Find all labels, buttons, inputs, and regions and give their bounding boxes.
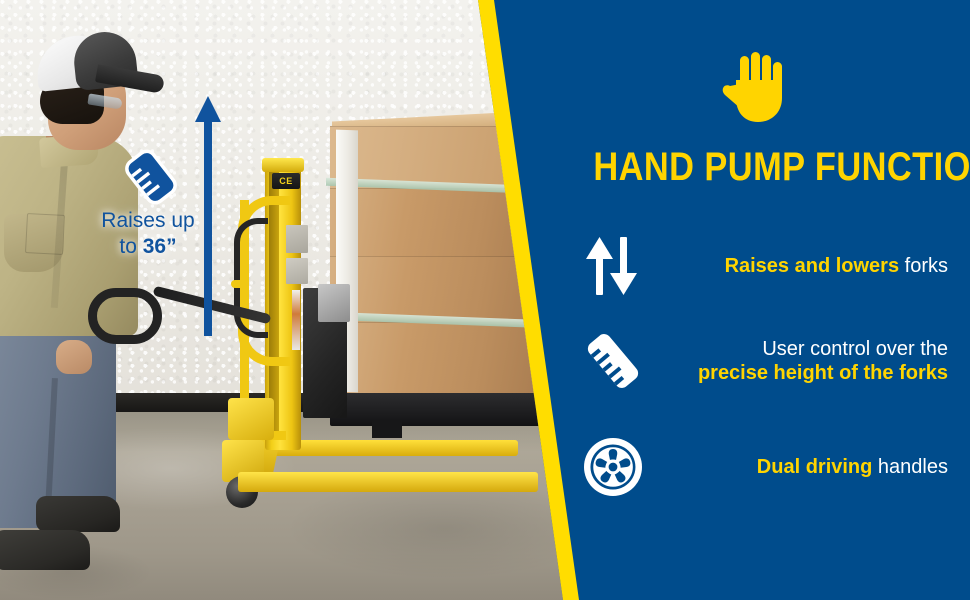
feature-highlight: Raises and lowers — [725, 255, 900, 277]
worker-boot-rear — [36, 496, 120, 532]
feature-item-precise-height: User control over the precise height of … — [565, 318, 970, 404]
feature-panel: HAND PUMP FUNCTION Raises and lowers for… — [565, 0, 970, 600]
product-photo: CE — [0, 0, 570, 600]
page-title: HAND PUMP FUNCTION — [593, 145, 941, 190]
box-stack — [330, 126, 545, 396]
handle-grip — [231, 280, 249, 288]
wheel-icon — [565, 438, 661, 496]
mast-cap — [262, 158, 304, 172]
pallet — [330, 392, 540, 426]
hand-icon — [720, 50, 792, 124]
wheel-icon-circle — [584, 438, 642, 496]
ruler-icon — [122, 148, 180, 206]
callout-height-value: 36” — [143, 235, 177, 258]
carriage-plate — [318, 284, 350, 322]
stacker-leg-near — [238, 472, 538, 492]
feature-highlight: Dual driving — [757, 456, 873, 478]
feature-item-raises-lowers: Raises and lowers forks — [565, 228, 970, 304]
feature-item-dual-handles: Dual driving handles — [565, 428, 970, 506]
feature-plain: forks — [899, 255, 948, 277]
box-tier — [330, 322, 545, 393]
callout-line-2-prefix: to — [119, 235, 142, 258]
stacker-pivot-housing — [228, 398, 274, 440]
feature-text: User control over the precise height of … — [661, 337, 970, 386]
up-down-arrows-icon — [565, 235, 661, 297]
tiller-loop-handle — [88, 288, 162, 344]
callout-line-1: Raises up — [101, 209, 194, 232]
height-callout-text: Raises up to 36” — [82, 208, 214, 261]
machine-decal-strip — [292, 290, 300, 350]
ruler-icon — [565, 329, 661, 393]
pallet-foot — [372, 420, 402, 438]
worker-boot-front — [0, 530, 90, 570]
feature-text: Dual driving handles — [661, 455, 970, 479]
feature-plain: handles — [872, 456, 948, 478]
feature-plain: User control over the — [762, 338, 948, 360]
ce-marking-label: CE — [272, 173, 300, 189]
feature-highlight: precise height of the forks — [698, 362, 948, 384]
feature-text: Raises and lowers forks — [661, 254, 970, 278]
worker-hand — [56, 340, 92, 374]
box-tier — [330, 188, 545, 257]
infographic-root: CE — [0, 0, 970, 600]
